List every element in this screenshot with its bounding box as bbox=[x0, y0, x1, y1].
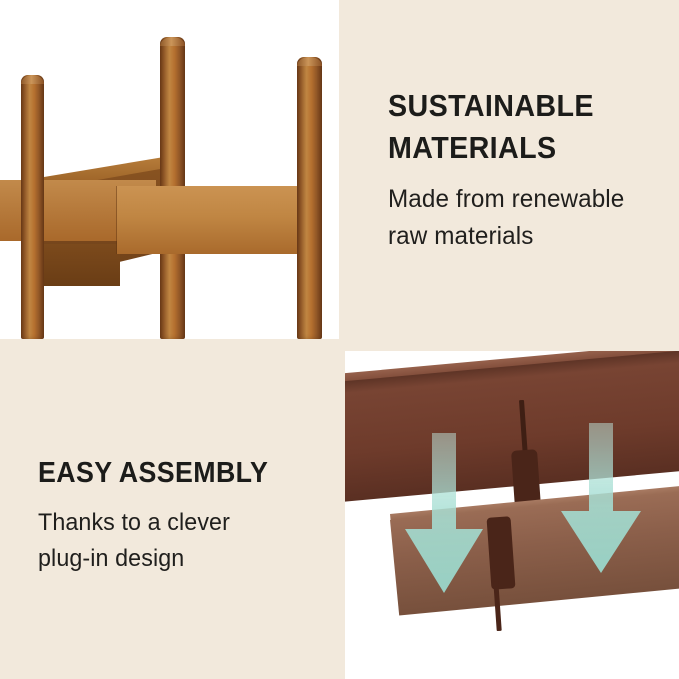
assembly-arrow-right bbox=[561, 423, 641, 573]
subtext-line-2: plug-in design bbox=[38, 541, 305, 577]
sustainable-materials-subtext: Made from renewable raw materials bbox=[388, 181, 641, 255]
sustainable-materials-headline: SUSTAINABLE MATERIALS bbox=[388, 85, 633, 169]
easy-assembly-subtext: Thanks to a clever plug-in design bbox=[38, 505, 305, 577]
panel-bottom-left-text: EASY ASSEMBLY Thanks to a clever plug-in… bbox=[0, 351, 339, 679]
panel-top-left-photo bbox=[0, 0, 339, 345]
sustainable-materials-block: SUSTAINABLE MATERIALS Made from renewabl… bbox=[345, 0, 679, 339]
stand-leg-right bbox=[297, 57, 322, 339]
rail-under-shadow bbox=[44, 244, 120, 286]
subtext-line-2: raw materials bbox=[388, 218, 641, 255]
plant-stand-joinery-photo bbox=[0, 0, 339, 345]
headline-line-1: SUSTAINABLE bbox=[388, 85, 633, 127]
plug-in-joint-photo bbox=[345, 345, 679, 679]
panel-bottom-right-photo bbox=[345, 345, 679, 679]
headline-line-2: MATERIALS bbox=[388, 127, 633, 169]
stand-leg-left bbox=[21, 75, 44, 339]
headline-line-1: EASY ASSEMBLY bbox=[38, 453, 297, 493]
tenon-peg-lower bbox=[487, 516, 516, 589]
grid-divider-vertical bbox=[339, 0, 345, 679]
subtext-line-1: Made from renewable bbox=[388, 181, 641, 218]
feature-grid: SUSTAINABLE MATERIALS Made from renewabl… bbox=[0, 0, 679, 679]
easy-assembly-block: EASY ASSEMBLY Thanks to a clever plug-in… bbox=[0, 351, 339, 679]
subtext-line-1: Thanks to a clever bbox=[38, 505, 305, 541]
panel-top-right-text: SUSTAINABLE MATERIALS Made from renewabl… bbox=[345, 0, 679, 339]
easy-assembly-headline: EASY ASSEMBLY bbox=[38, 453, 297, 493]
assembly-arrow-left bbox=[405, 433, 483, 593]
front-cross-rail bbox=[117, 186, 307, 254]
